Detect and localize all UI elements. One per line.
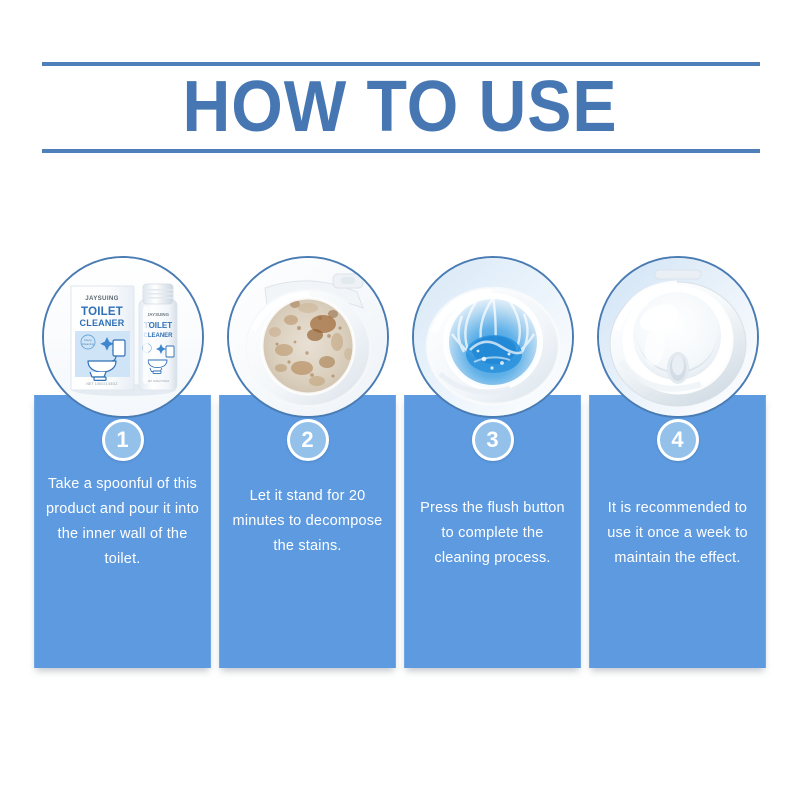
step-card-4: 4 It is recommended to use it once a wee… [589, 256, 766, 668]
svg-text:JAYSUING: JAYSUING [85, 295, 118, 302]
step-caption-4: It is recommended to use it once a week … [599, 496, 756, 571]
step-caption-2: Let it stand for 20 minutes to decompose… [229, 484, 386, 559]
svg-text:JAYSUING: JAYSUING [146, 312, 169, 317]
svg-text:TOILET: TOILET [143, 321, 171, 330]
page-header: HOW TO USE [0, 0, 800, 180]
svg-text:Cleaning: Cleaning [81, 342, 93, 346]
title-rule-bottom [42, 149, 760, 153]
product-package-photo: JAYSUING TOILET CLEANER Deep Cleaning [42, 256, 204, 418]
flushing-toilet-bowl-photo [412, 256, 574, 418]
step-number-badge-1: 1 [102, 419, 144, 461]
stained-toilet-bowl-photo [227, 256, 389, 418]
svg-text:TOILET: TOILET [81, 306, 123, 318]
step-card-1: JAYSUING TOILET CLEANER Deep Cleaning [34, 256, 211, 668]
step-number-badge-3: 3 [472, 419, 514, 461]
step-number-badge-4: 4 [657, 419, 699, 461]
title-rule-top [42, 62, 760, 66]
step-card-2: 2 Let it stand for 20 minutes to decompo… [219, 256, 396, 668]
steps-row: JAYSUING TOILET CLEANER Deep Cleaning [0, 256, 800, 676]
step-card-3: 3 Press the flush button to complete the… [404, 256, 581, 668]
svg-text:NET 100G/3.53OZ: NET 100G/3.53OZ [146, 379, 169, 383]
step-number-badge-2: 2 [287, 419, 329, 461]
clean-toilet-bowl-photo [597, 256, 759, 418]
svg-text:NET 100G/3.53OZ: NET 100G/3.53OZ [86, 382, 117, 386]
step-caption-3: Press the flush button to complete the c… [414, 496, 571, 571]
page-title: HOW TO USE [32, 68, 768, 146]
step-caption-1: Take a spoonful of this product and pour… [44, 472, 201, 572]
svg-text:CLEANER: CLEANER [79, 318, 124, 328]
